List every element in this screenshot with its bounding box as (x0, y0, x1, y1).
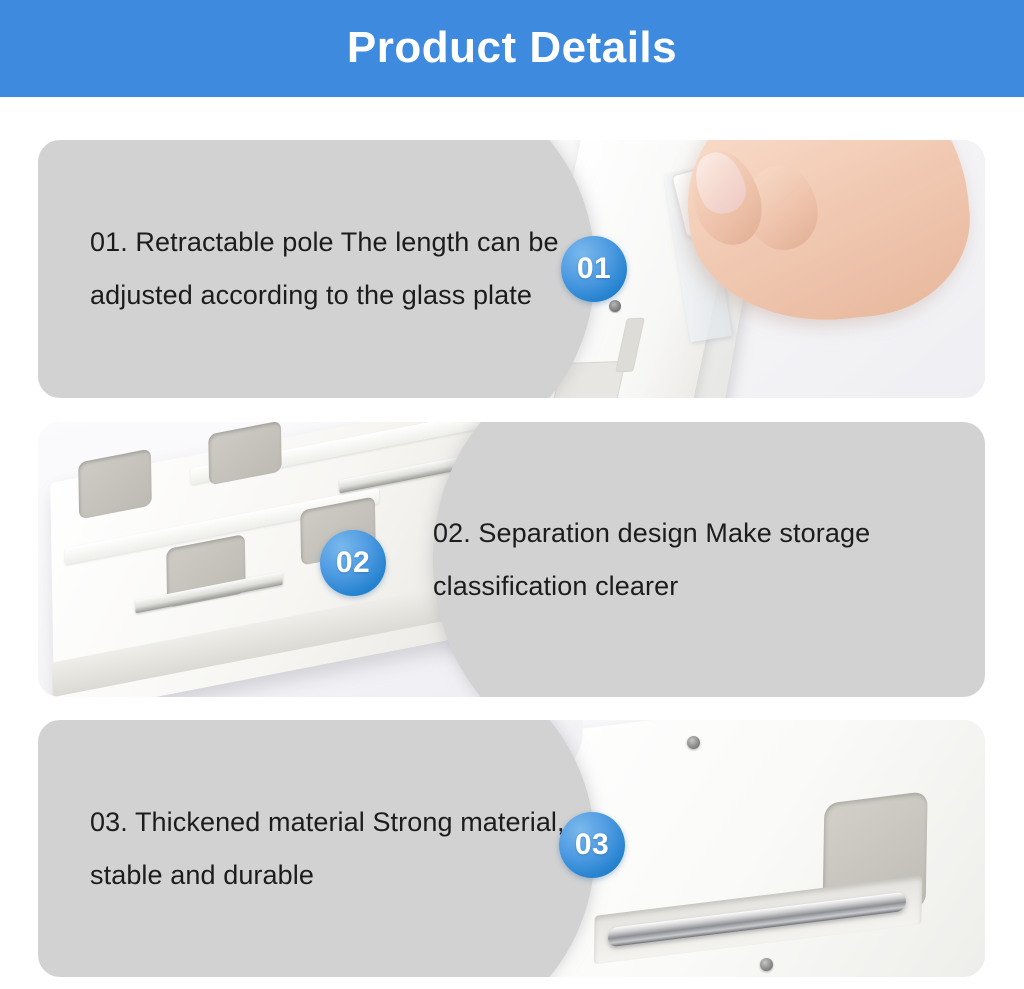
step-badge-label-03: 03 (575, 830, 609, 860)
screw-icon (687, 736, 700, 749)
page-header: Product Details (0, 0, 1024, 97)
step-badge-02: 02 (320, 530, 386, 596)
feature-description-02: 02. Separation design Make storage class… (433, 507, 945, 613)
feature-text-block-03: 03. Thickened material Strong material, … (38, 720, 638, 977)
step-badge-03: 03 (559, 812, 625, 878)
page-title: Product Details (347, 26, 677, 70)
step-badge-label-02: 02 (336, 548, 370, 578)
feature-card-02: 02. Separation design Make storage class… (38, 422, 985, 697)
step-badge-label-01: 01 (577, 254, 611, 284)
feature-text-block-02: 02. Separation design Make storage class… (385, 422, 985, 697)
step-badge-01: 01 (561, 236, 627, 302)
feature-card-01: 01. Retractable pole The length can be a… (38, 140, 985, 398)
feature-text-block-01: 01. Retractable pole The length can be a… (38, 140, 638, 398)
feature-description-01: 01. Retractable pole The length can be a… (90, 216, 608, 322)
feature-card-03: 03. Thickened material Strong material, … (38, 720, 985, 977)
screw-icon (760, 958, 773, 971)
feature-description-03: 03. Thickened material Strong material, … (90, 796, 608, 902)
